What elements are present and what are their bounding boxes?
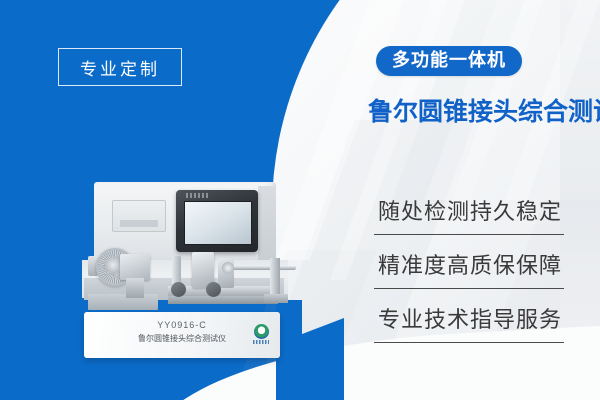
adjustment-knob-left <box>171 282 186 297</box>
machine-front-body: YY0916-C 鲁尔圆锥接头综合测试仪 <box>84 312 280 358</box>
adjustment-knob-right <box>206 282 221 297</box>
linear-slide-rail-lower <box>168 296 278 304</box>
product-machine: YY0916-C 鲁尔圆锥接头综合测试仪 <box>72 182 304 378</box>
multifunction-pill-badge: 多功能一体机 <box>376 46 522 76</box>
hmi-brand-logo <box>186 193 208 198</box>
company-logo-mark-icon <box>254 324 269 339</box>
rotary-dial-hub <box>106 258 120 272</box>
feature-item-2: 精准度高质保保障 <box>374 244 570 288</box>
feature-divider-1 <box>374 234 564 235</box>
machine-back-panel-side <box>258 186 276 262</box>
test-shaft <box>224 266 296 270</box>
touchscreen-panel <box>176 190 258 252</box>
rotary-dial-base-plate <box>88 294 158 310</box>
support-post-foot <box>264 294 288 303</box>
rotary-dial-block <box>120 254 150 280</box>
feature-list: 随处检测持久稳定 精准度高质保保障 专业技术指导服务 <box>374 190 570 352</box>
feature-divider-3 <box>374 342 564 343</box>
custom-service-badge: 专业定制 <box>58 48 182 86</box>
test-shaft-cap <box>222 262 234 274</box>
rotary-dial-stand <box>126 278 144 298</box>
product-title: 鲁尔圆锥接头综合测试仪 <box>368 92 600 128</box>
company-round-logo <box>252 324 270 346</box>
hmi-screen <box>184 201 252 245</box>
machine-model-label: YY0916-C <box>84 320 280 330</box>
company-logo-text <box>253 340 269 344</box>
machine-access-plate <box>112 200 166 232</box>
feature-item-3: 专业技术指导服务 <box>374 298 570 342</box>
promo-banner: 专业定制 多功能一体机 鲁尔圆锥接头综合测试仪 随处检测持久稳定 精准度高质保保… <box>0 0 600 400</box>
feature-item-1: 随处检测持久稳定 <box>374 190 570 234</box>
machine-name-label: 鲁尔圆锥接头综合测试仪 <box>84 333 280 344</box>
multifunction-pill-label: 多功能一体机 <box>392 50 506 70</box>
feature-divider-2 <box>374 288 564 289</box>
custom-service-badge-label: 专业定制 <box>80 55 160 80</box>
